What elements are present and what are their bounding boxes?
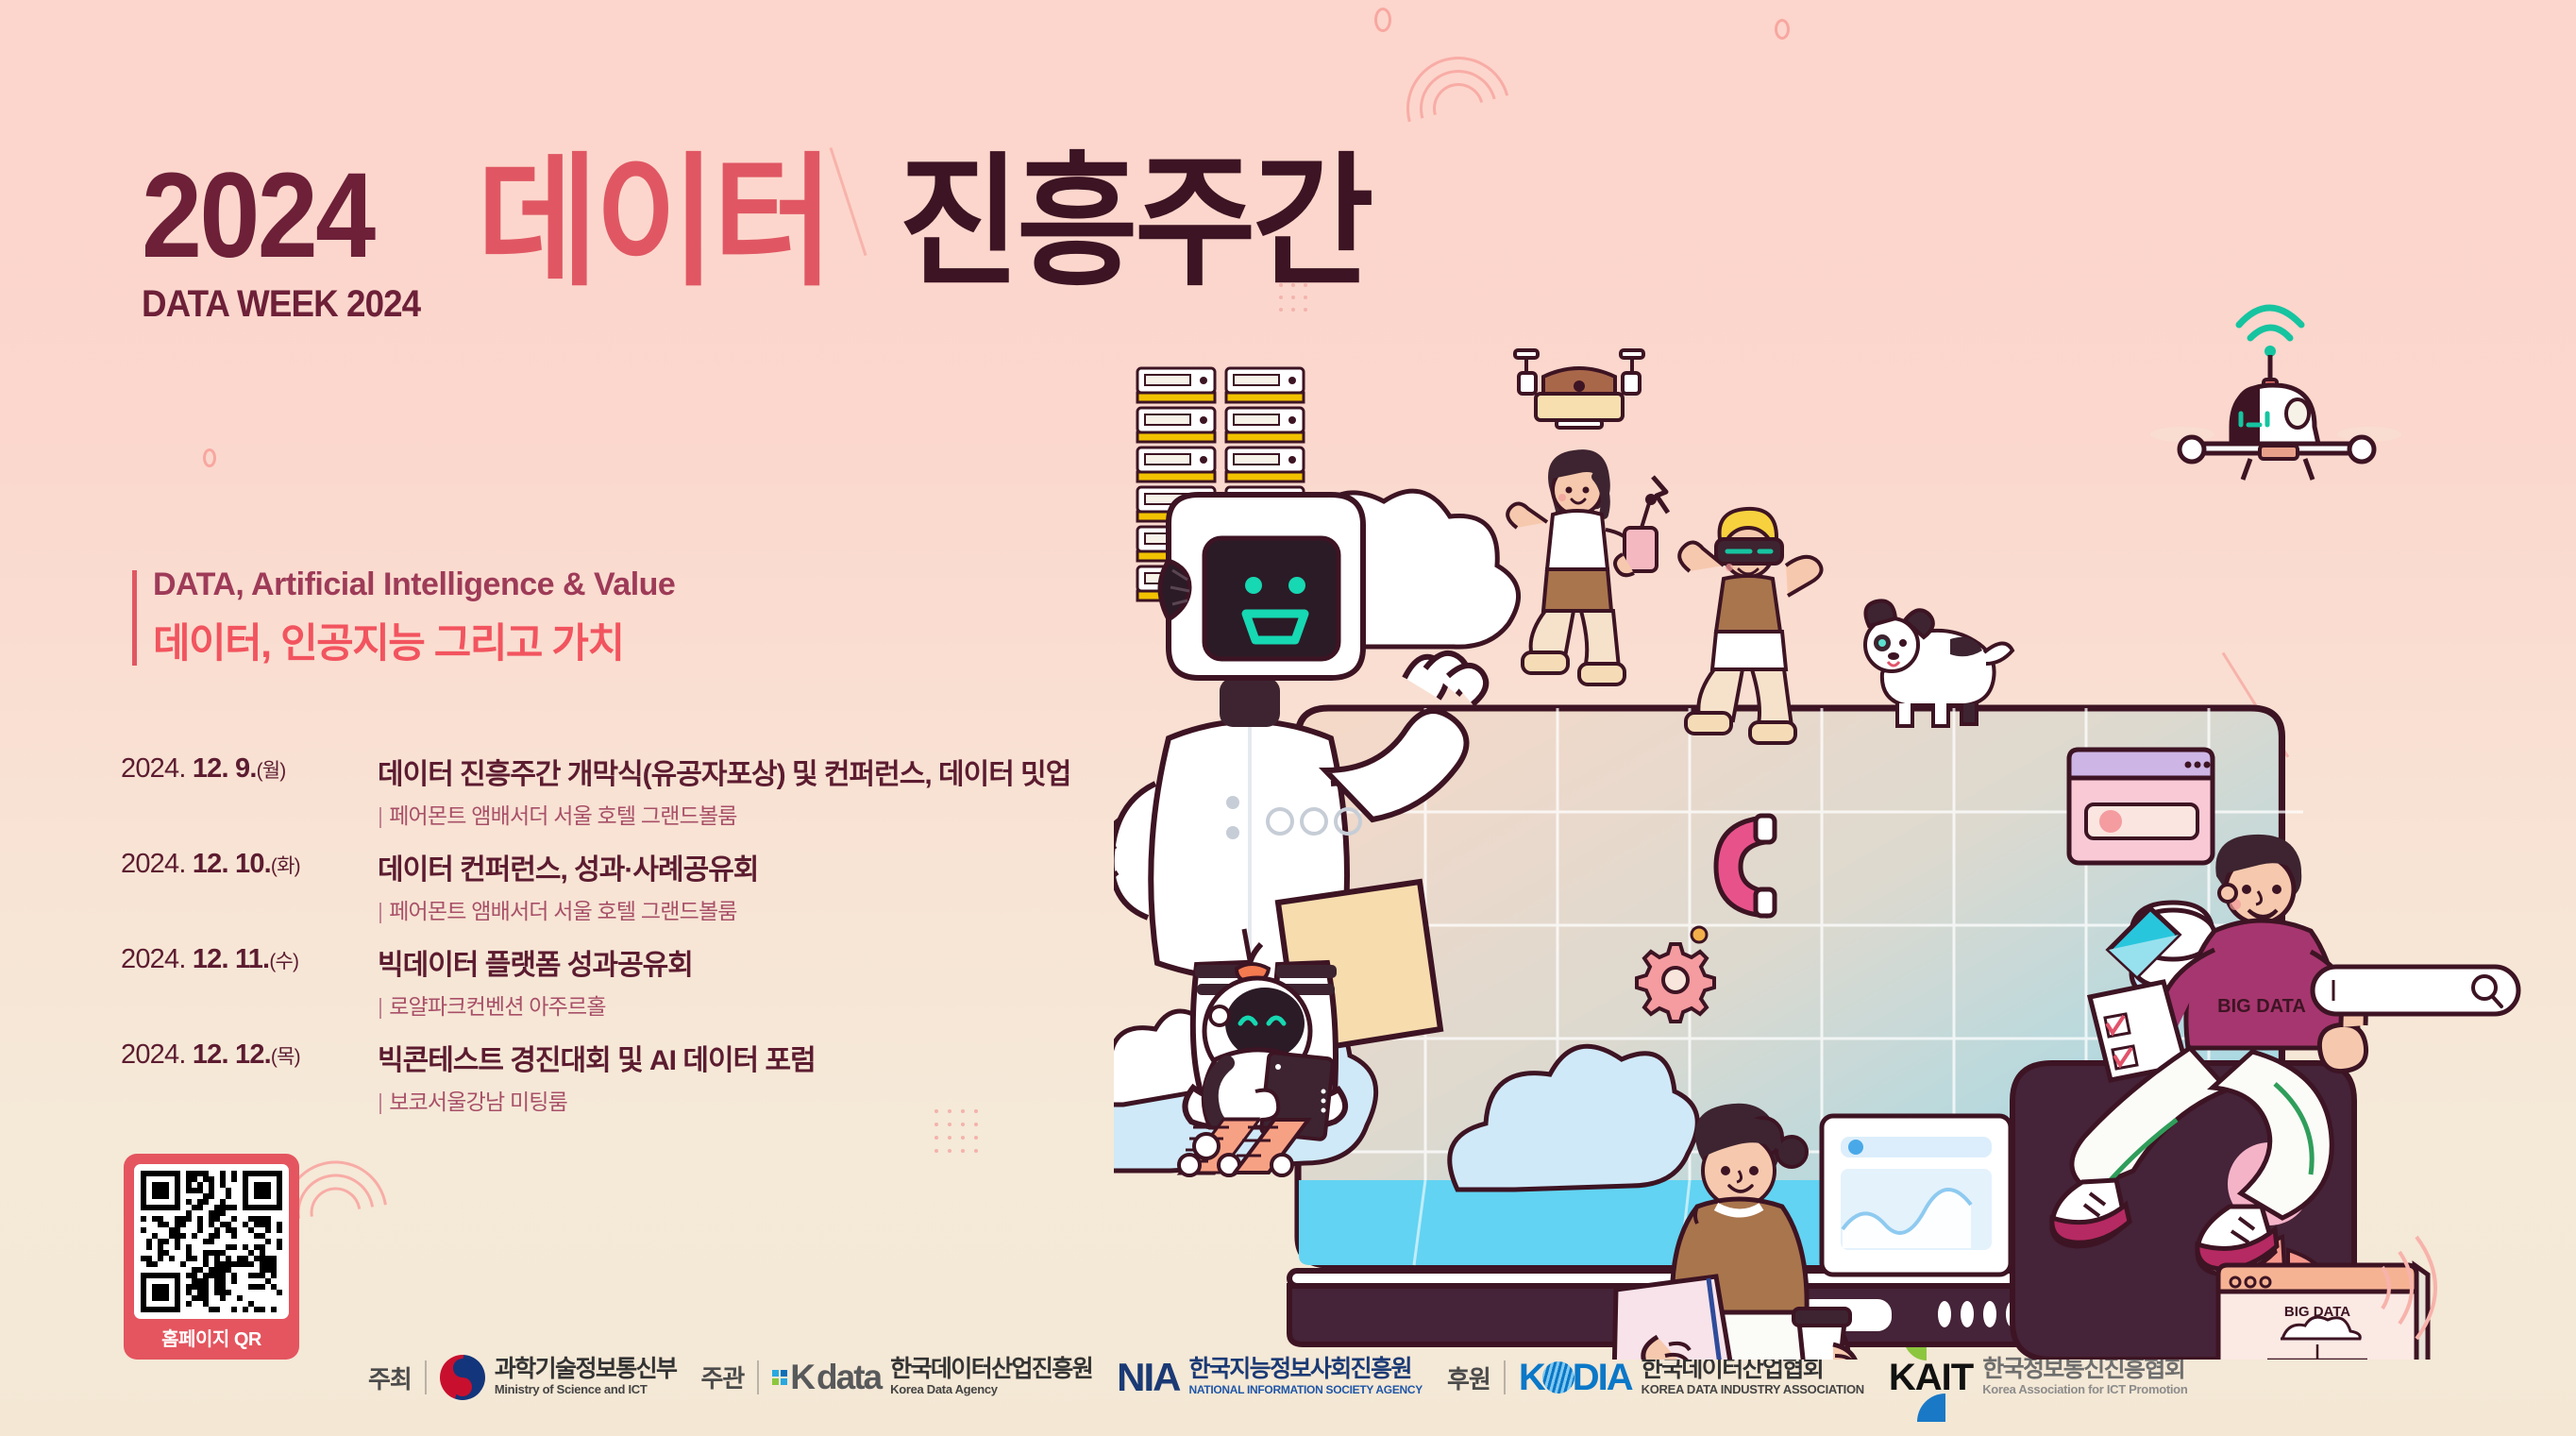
illustration: BIG DATA xyxy=(1114,283,2558,1360)
delivery-drone xyxy=(1515,350,1643,428)
kodia-k: K xyxy=(1519,1357,1544,1399)
logo-kdata: K data 한국데이터산업진흥원 Korea Data Agency xyxy=(772,1357,1092,1397)
logo-kait: KAIT 한국정보통신진흥협회 Korea Association for IC… xyxy=(1889,1357,2188,1399)
schedule-title: 데이터 진흥주간 개막식(유공자포상) 및 컨퍼런스, 데이터 밋업 xyxy=(378,751,1216,792)
schedule-venue-text: 페어몬트 앰배서더 서울 호텔 그랜드볼룸 xyxy=(389,803,736,828)
deco-ring-2 xyxy=(203,448,216,467)
schedule-venue: |페어몬트 앰배서더 서울 호텔 그랜드볼룸 xyxy=(378,893,1216,925)
schedule-date: 2024. 12. 12.(목) xyxy=(121,1037,378,1071)
year-block: 2024 DATA WEEK 2024 xyxy=(142,160,445,326)
headline-year: 2024 xyxy=(142,160,414,272)
kodia-dia: DIA xyxy=(1573,1357,1632,1399)
schedule-row: 2024. 12. 10.(화) 데이터 컨퍼런스, 성과·사례공유회 |페어몬… xyxy=(121,846,1216,925)
org-name-en: Ministry of Science and ICT xyxy=(495,1382,648,1396)
subtitle-korean: 데이터, 인공지능 그리고 가치 xyxy=(153,611,675,669)
qr-code-block[interactable]: 홈페이지 QR xyxy=(124,1154,299,1360)
schedule-body: 데이터 진흥주간 개막식(유공자포상) 및 컨퍼런스, 데이터 밋업 |페어몬트… xyxy=(378,751,1216,830)
schedule-list: 2024. 12. 9.(월) 데이터 진흥주간 개막식(유공자포상) 및 컨퍼… xyxy=(121,751,1216,1132)
divider xyxy=(1504,1360,1506,1394)
nia-wordmark: NIA xyxy=(1117,1355,1179,1400)
schedule-body: 데이터 컨퍼런스, 성과·사례공유회 |페어몬트 앰배서더 서울 호텔 그랜드볼… xyxy=(378,846,1216,925)
org-kait: 한국정보통신진흥협회 Korea Association for ICT Pro… xyxy=(1982,1357,2187,1397)
footer-sponsors: 주최 과학기술정보통신부 Ministry of Science and ICT… xyxy=(368,1355,2557,1400)
venue-bar: | xyxy=(378,899,382,923)
schedule-date-day: (수) xyxy=(269,951,298,972)
kdata-squares-icon xyxy=(772,1370,787,1385)
qr-label: 홈페이지 QR xyxy=(134,1319,289,1354)
schedule-date-day: (화) xyxy=(271,855,300,877)
schedule-date-md: 12. 9. xyxy=(193,753,257,784)
schedule-row: 2024. 12. 12.(목) 빅콘테스트 경진대회 및 AI 데이터 포럼 … xyxy=(121,1037,1216,1116)
globe-icon xyxy=(1542,1361,1574,1394)
sponsor-group-organizer: 주관 K data 한국데이터산업진흥원 Korea Data Agency xyxy=(700,1357,1092,1397)
schedule-row: 2024. 12. 9.(월) 데이터 진흥주간 개막식(유공자포상) 및 컨퍼… xyxy=(121,751,1216,830)
schedule-venue: |페어몬트 앰배서더 서울 호텔 그랜드볼룸 xyxy=(378,798,1216,830)
logo-kodia: K DIA 한국데이터산업협회 KOREA DATA INDUSTRY ASSO… xyxy=(1519,1357,1864,1399)
sponsor-role-organizer: 주관 xyxy=(700,1360,744,1394)
subtitle-english: DATA, Artificial Intelligence & Value xyxy=(153,566,675,603)
sponsor-group-host: 주최 과학기술정보통신부 Ministry of Science and ICT xyxy=(368,1355,676,1400)
sponsor-role-supporter: 후원 xyxy=(1447,1360,1490,1395)
schedule-row: 2024. 12. 11.(수) 빅데이터 플랫폼 성과공유회 |로얄파크컨벤션… xyxy=(121,941,1216,1021)
org-name-kr: 한국지능정보사회진흥원 xyxy=(1188,1356,1410,1382)
qr-modules xyxy=(141,1171,282,1312)
schedule-venue-text: 로얄파크컨벤션 아주르홀 xyxy=(389,994,606,1019)
org-name-en: Korea Association for ICT Promotion xyxy=(1982,1382,2187,1396)
sponsor-group-kait: KAIT 한국정보통신진흥협회 Korea Association for IC… xyxy=(1889,1357,2188,1399)
kdata-k-icon: K xyxy=(790,1358,814,1397)
schedule-date-year: 2024. xyxy=(121,1039,193,1070)
wifi-drone xyxy=(2150,308,2401,480)
kait-mark: KAIT xyxy=(1889,1357,1973,1399)
sponsor-role-host: 주최 xyxy=(368,1360,412,1395)
schedule-venue-text: 페어몬트 앰배서더 서울 호텔 그랜드볼룸 xyxy=(389,899,736,923)
headline-kr-data: 데이터 xyxy=(477,160,831,287)
schedule-body: 빅데이터 플랫폼 성과공유회 |로얄파크컨벤션 아주르홀 xyxy=(378,941,1216,1021)
schedule-venue-text: 보코서울강남 미팅룸 xyxy=(389,1090,567,1114)
big-data-shirt-label: BIG DATA xyxy=(2217,996,2306,1017)
logo-nia: NIA 한국지능정보사회진흥원 NATIONAL INFORMATION SOC… xyxy=(1117,1355,1423,1400)
org-msit: 과학기술정보통신부 Ministry of Science and ICT xyxy=(495,1357,677,1397)
sponsor-group-supporter: 후원 K DIA 한국데이터산업협회 KOREA DATA INDUSTRY A… xyxy=(1447,1357,1864,1399)
headline-kr-week: 진흥주간 xyxy=(899,160,1371,287)
taegeuk-icon xyxy=(440,1355,485,1400)
wifi-icon xyxy=(2239,308,2301,357)
venue-bar: | xyxy=(378,994,382,1019)
deco-ring-3 xyxy=(1775,19,1790,40)
org-name-kr: 한국데이터산업진흥원 xyxy=(890,1356,1092,1382)
schedule-date: 2024. 12. 10.(화) xyxy=(121,846,378,880)
divider xyxy=(757,1360,759,1394)
schedule-date-md: 12. 11. xyxy=(193,944,270,974)
kdata-mark-icon: K data xyxy=(772,1358,881,1397)
chart-window xyxy=(1822,1116,2011,1275)
org-name-en: KOREA DATA INDUSTRY ASSOCIATION xyxy=(1642,1382,1864,1396)
schedule-date-md: 12. 12. xyxy=(193,1039,271,1070)
schedule-date: 2024. 12. 9.(월) xyxy=(121,751,378,785)
schedule-title: 빅콘테스트 경진대회 및 AI 데이터 포럼 xyxy=(378,1037,1216,1078)
kdata-wordmark: data xyxy=(817,1358,881,1397)
schedule-venue: |로얄파크컨벤션 아주르홀 xyxy=(378,988,1216,1021)
kait-wordmark: KAIT xyxy=(1889,1357,1973,1399)
subtitle-block: DATA, Artificial Intelligence & Value 데이… xyxy=(132,566,675,669)
sponsor-group-nia: NIA 한국지능정보사회진흥원 NATIONAL INFORMATION SOC… xyxy=(1117,1355,1423,1400)
schedule-venue: |보코서울강남 미팅룸 xyxy=(378,1084,1216,1116)
schedule-date-day: (목) xyxy=(271,1046,300,1068)
schedule-title: 빅데이터 플랫폼 성과공유회 xyxy=(378,941,1216,983)
schedule-date-year: 2024. xyxy=(121,753,193,784)
schedule-title: 데이터 컨퍼런스, 성과·사례공유회 xyxy=(378,846,1216,887)
schedule-date-day: (월) xyxy=(257,760,286,782)
schedule-body: 빅콘테스트 경진대회 및 AI 데이터 포럼 |보코서울강남 미팅룸 xyxy=(378,1037,1216,1116)
poster-root: 2024 DATA WEEK 2024 데이터 진흥주간 DATA, Artif… xyxy=(0,0,2576,1436)
kodia-wordmark: K DIA xyxy=(1519,1357,1632,1399)
org-kodia: 한국데이터산업협회 KOREA DATA INDUSTRY ASSOCIATIO… xyxy=(1642,1357,1864,1397)
gear-icon xyxy=(1637,944,1714,1022)
schedule-date-year: 2024. xyxy=(121,849,193,879)
girl-with-remote xyxy=(1507,449,1668,684)
logo-msit: 과학기술정보통신부 Ministry of Science and ICT xyxy=(440,1355,677,1400)
divider xyxy=(425,1360,427,1394)
schedule-date: 2024. 12. 11.(수) xyxy=(121,941,378,975)
headline-data-week-en: DATA WEEK 2024 xyxy=(142,283,420,326)
pink-chart-window xyxy=(2069,750,2213,863)
org-name-en: Korea Data Agency xyxy=(890,1382,998,1396)
big-data-window: BIG DATA xyxy=(2218,1265,2428,1360)
deco-arc-group-top xyxy=(1406,57,1520,170)
schedule-date-year: 2024. xyxy=(121,944,193,974)
org-kdata: 한국데이터산업진흥원 Korea Data Agency xyxy=(890,1357,1092,1397)
venue-bar: | xyxy=(378,803,382,828)
org-name-kr: 과학기술정보통신부 xyxy=(495,1356,677,1382)
deco-ring-1 xyxy=(1374,8,1391,32)
org-name-kr: 한국데이터산업협회 xyxy=(1642,1356,1824,1382)
qr-code-image xyxy=(134,1164,289,1319)
venue-bar: | xyxy=(378,1090,382,1114)
org-name-en: NATIONAL INFORMATION SOCIETY AGENCY xyxy=(1188,1383,1423,1396)
org-name-kr: 한국정보통신진흥협회 xyxy=(1982,1356,2184,1382)
schedule-date-md: 12. 10. xyxy=(193,849,271,879)
org-nia: 한국지능정보사회진흥원 NATIONAL INFORMATION SOCIETY… xyxy=(1188,1357,1423,1397)
